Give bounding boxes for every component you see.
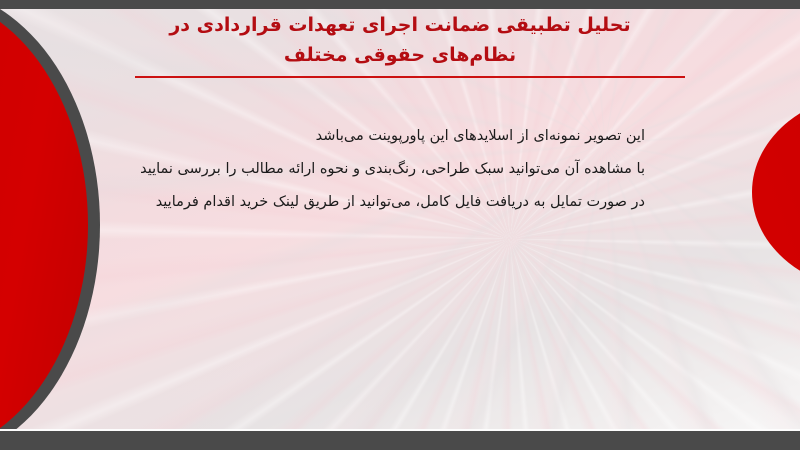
slide-background-panel	[0, 9, 800, 429]
presentation-slide: تحلیل تطبیقی ضمانت اجرای تعهدات قراردادی…	[0, 0, 800, 450]
background-fan-pattern	[0, 9, 800, 429]
slide-frame-bottom-bar	[0, 431, 800, 450]
title-divider-rule	[135, 76, 685, 78]
slide-body-line-2: با مشاهده آن می‌توانید سبک طراحی، رنگ‌بن…	[115, 153, 645, 186]
slide-body-line-3: در صورت تمایل به دریافت فایل کامل، می‌تو…	[115, 186, 645, 219]
slide-title-line-1: تحلیل تطبیقی ضمانت اجرای تعهدات قراردادی…	[100, 10, 700, 40]
slide-body-text: این تصویر نمونه‌ای از اسلایدهای این پاور…	[115, 120, 645, 219]
slide-body-line-1: این تصویر نمونه‌ای از اسلایدهای این پاور…	[115, 120, 645, 153]
slide-title-line-2: نظام‌های حقوقی مختلف	[100, 40, 700, 70]
slide-title: تحلیل تطبیقی ضمانت اجرای تعهدات قراردادی…	[100, 10, 700, 70]
slide-frame-top-bar	[0, 0, 800, 9]
slide-frame-bottom-hairline	[0, 429, 800, 431]
background-fan-pattern-secondary	[0, 9, 800, 429]
